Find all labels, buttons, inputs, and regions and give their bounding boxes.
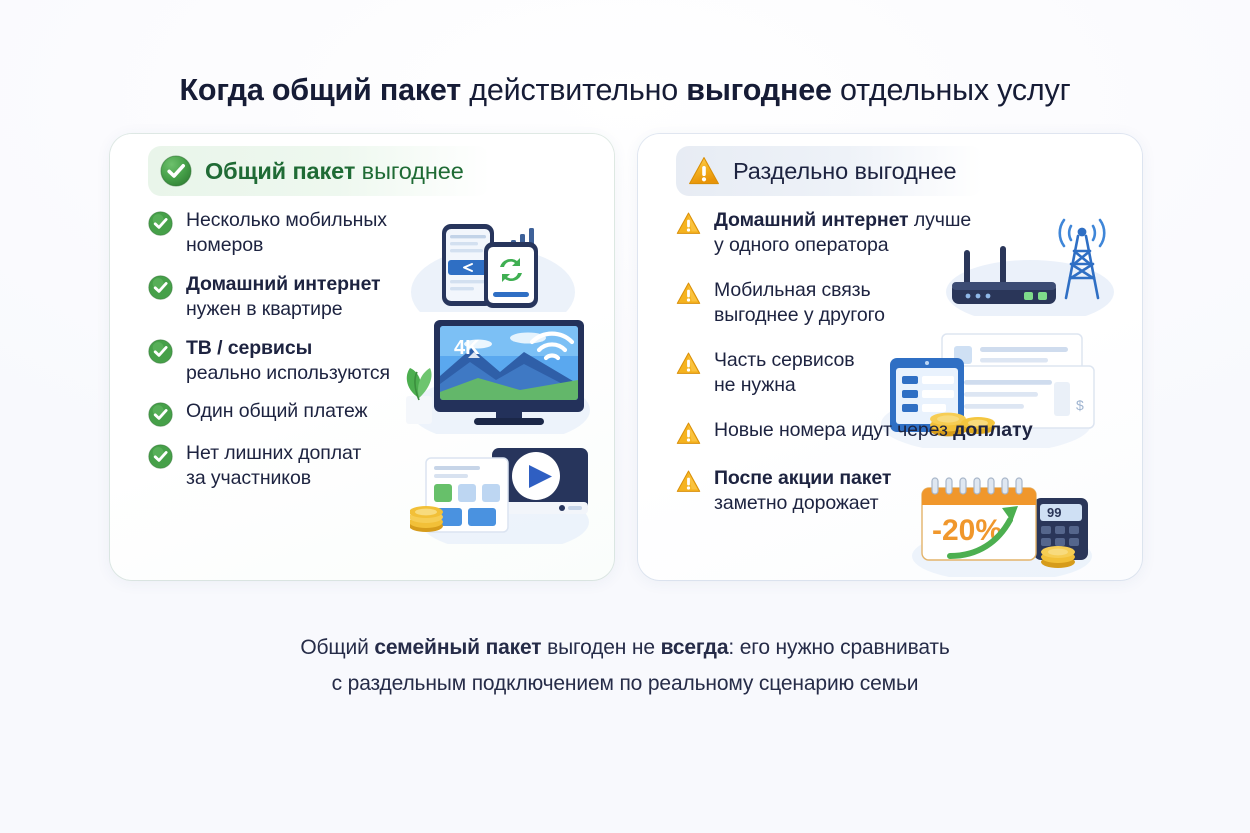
card-header-label-package-better-segment-0: Общий пакет xyxy=(205,158,355,184)
list-item: ТВ / сервисыреально используются xyxy=(148,336,588,386)
list-item: Домашний интернет лучшеу одного оператор… xyxy=(676,208,1116,258)
separate-better-item-0-label: Домашний интернет лучшеу одного оператор… xyxy=(714,208,971,258)
separate-better-item-2-label: Часть сервисовне нужна xyxy=(714,348,855,398)
package-better-item-0-line-1-segment-0: номеров xyxy=(186,234,263,256)
list-item: Нет лишних доплатза участников xyxy=(148,441,588,491)
card-header-label-package-better: Общий пакет выгоднее xyxy=(205,158,464,185)
list-item: Часть сервисовне нужна xyxy=(676,348,1116,398)
package-better-item-1-line-0-segment-0: Домашний интернет xyxy=(186,273,381,295)
list-package-better: Несколько мобильныхномеровДомашний интер… xyxy=(148,208,588,505)
page-title-segment-2: выгоднее xyxy=(686,73,831,107)
warning-triangle-icon xyxy=(676,211,701,236)
footnote-line-0-segment-0: Общий xyxy=(300,636,374,659)
footnote-line-0-segment-3: всегда xyxy=(661,636,729,659)
list-item: Поспе акции пакетзаметно дорожает xyxy=(676,466,1116,516)
card-header-label-separate-better: Раздельно выгоднее xyxy=(733,158,957,185)
footnote-line-0-segment-2: выгоден не xyxy=(541,636,660,659)
separate-better-item-1-line-0-segment-0: Мобильная связь xyxy=(714,279,871,301)
package-better-item-3-line-0: Один общий платеж xyxy=(186,399,368,424)
separate-better-item-3-line-0-segment-1: доплату xyxy=(953,419,1032,441)
list-item: Новые номера идут через доплату xyxy=(676,418,1116,446)
check-circle-icon xyxy=(160,155,192,187)
check-circle-icon xyxy=(148,211,173,236)
separate-better-item-3-label: Новые номера идут через доплату xyxy=(714,418,1033,443)
package-better-item-2-line-0-segment-0: ТВ / сервисы xyxy=(186,337,312,359)
separate-better-item-3-line-0-segment-0: Новые номера идут через xyxy=(714,419,953,441)
footnote-line-0: Общий семейный пакет выгоден не всегда: … xyxy=(0,630,1250,666)
footnote-line-0-segment-1: семейный пакет xyxy=(374,636,541,659)
card-header-separate-better: Раздельно выгоднее xyxy=(676,146,983,196)
package-better-item-2-line-1-segment-0: реально используются xyxy=(186,362,390,384)
warning-triangle-icon xyxy=(676,351,701,376)
footnote-line-1: с раздельным подключением по реальному с… xyxy=(0,666,1250,702)
separate-better-item-0-line-0-segment-0: Домашний интернет xyxy=(714,209,909,231)
footnote-line-1-segment-0: с раздельным подключением по реальному с… xyxy=(332,672,919,695)
comparison-cards: Общий пакет выгоднее xyxy=(110,134,1142,580)
card-header-package-better: Общий пакет выгоднее xyxy=(148,146,490,196)
warning-triangle-icon xyxy=(676,281,701,306)
list-separate-better: Домашний интернет лучшеу одного оператор… xyxy=(676,208,1116,536)
page-title-segment-1: действительно xyxy=(461,73,686,107)
footnote-text: Общий семейный пакет выгоден не всегда: … xyxy=(0,630,1250,702)
separate-better-item-0-line-0: Домашний интернет лучше xyxy=(714,208,971,233)
package-better-item-2-line-0: ТВ / сервисы xyxy=(186,336,390,361)
infographic-poster: Когда общий пакет действительно выгоднее… xyxy=(0,0,1250,833)
card-header-label-separate-better-segment-0: Раздельно выгоднее xyxy=(733,158,957,184)
package-better-item-1-line-0: Домашний интернет xyxy=(186,272,381,297)
check-circle-icon xyxy=(148,402,173,427)
separate-better-item-4-label: Поспе акции пакетзаметно дорожает xyxy=(714,466,891,516)
package-better-item-3-label: Один общий платеж xyxy=(186,399,368,424)
package-better-item-1-line-1: нужен в квартире xyxy=(186,297,381,322)
warning-triangle-icon xyxy=(688,155,720,187)
warning-triangle-icon xyxy=(676,421,701,446)
list-item: Несколько мобильныхномеров xyxy=(148,208,588,258)
warning-triangle-icon xyxy=(676,469,701,494)
card-package-better: Общий пакет выгоднее xyxy=(110,134,614,580)
separate-better-item-4-line-1-segment-0: заметно дорожает xyxy=(714,492,878,514)
package-better-item-4-line-0: Нет лишних доплат xyxy=(186,441,361,466)
package-better-item-1-label: Домашний интернетнужен в квартире xyxy=(186,272,381,322)
separate-better-item-1-line-1: выгоднее у другого xyxy=(714,303,885,328)
separate-better-item-2-line-1-segment-0: не нужна xyxy=(714,374,796,396)
list-item: Мобильная связьвыгоднее у другого xyxy=(676,278,1116,328)
package-better-item-0-line-0: Несколько мобильных xyxy=(186,208,387,233)
separate-better-item-2-line-1: не нужна xyxy=(714,373,855,398)
package-better-item-2-label: ТВ / сервисыреально используются xyxy=(186,336,390,386)
package-better-item-4-line-1: за участников xyxy=(186,466,361,491)
separate-better-item-1-label: Мобильная связьвыгоднее у другого xyxy=(714,278,885,328)
separate-better-item-0-line-1: у одного оператора xyxy=(714,233,971,258)
list-item: Домашний интернетнужен в квартире xyxy=(148,272,588,322)
separate-better-item-4-line-1: заметно дорожает xyxy=(714,491,891,516)
card-separate-better: Раздельно выгоднее xyxy=(638,134,1142,580)
separate-better-item-0-line-0-segment-1: лучше xyxy=(909,209,972,231)
package-better-item-2-line-1: реально используются xyxy=(186,361,390,386)
package-better-item-1-line-1-segment-0: нужен в квартире xyxy=(186,298,342,320)
separate-better-item-0-line-1-segment-0: у одного оператора xyxy=(714,234,888,256)
package-better-item-0-label: Несколько мобильныхномеров xyxy=(186,208,387,258)
separate-better-item-1-line-1-segment-0: выгоднее у другого xyxy=(714,304,885,326)
package-better-item-0-line-1: номеров xyxy=(186,233,387,258)
card-header-label-package-better-segment-1: выгоднее xyxy=(355,158,463,184)
list-item: Один общий платеж xyxy=(148,399,588,427)
package-better-item-4-line-0-segment-0: Нет лишних доплат xyxy=(186,442,361,464)
check-circle-icon xyxy=(148,275,173,300)
page-title: Когда общий пакет действительно выгоднее… xyxy=(0,70,1250,110)
package-better-item-3-line-0-segment-0: Один общий платеж xyxy=(186,400,368,422)
check-circle-icon xyxy=(148,444,173,469)
footnote-line-0-segment-4: : его нужно сравнивать xyxy=(728,636,949,659)
separate-better-item-1-line-0: Мобильная связь xyxy=(714,278,885,303)
separate-better-item-2-line-0-segment-0: Часть сервисов xyxy=(714,349,855,371)
page-title-segment-3: отдельных услуг xyxy=(832,73,1071,107)
separate-better-item-3-line-0: Новые номера идут через доплату xyxy=(714,418,1033,443)
separate-better-item-4-line-0-segment-0: Поспе акции пакет xyxy=(714,467,891,489)
package-better-item-4-label: Нет лишних доплатза участников xyxy=(186,441,361,491)
package-better-item-4-line-1-segment-0: за участников xyxy=(186,467,311,489)
package-better-item-0-line-0-segment-0: Несколько мобильных xyxy=(186,209,387,231)
separate-better-item-4-line-0: Поспе акции пакет xyxy=(714,466,891,491)
check-circle-icon xyxy=(148,339,173,364)
separate-better-item-2-line-0: Часть сервисов xyxy=(714,348,855,373)
page-title-segment-0: Когда общий пакет xyxy=(179,73,461,107)
